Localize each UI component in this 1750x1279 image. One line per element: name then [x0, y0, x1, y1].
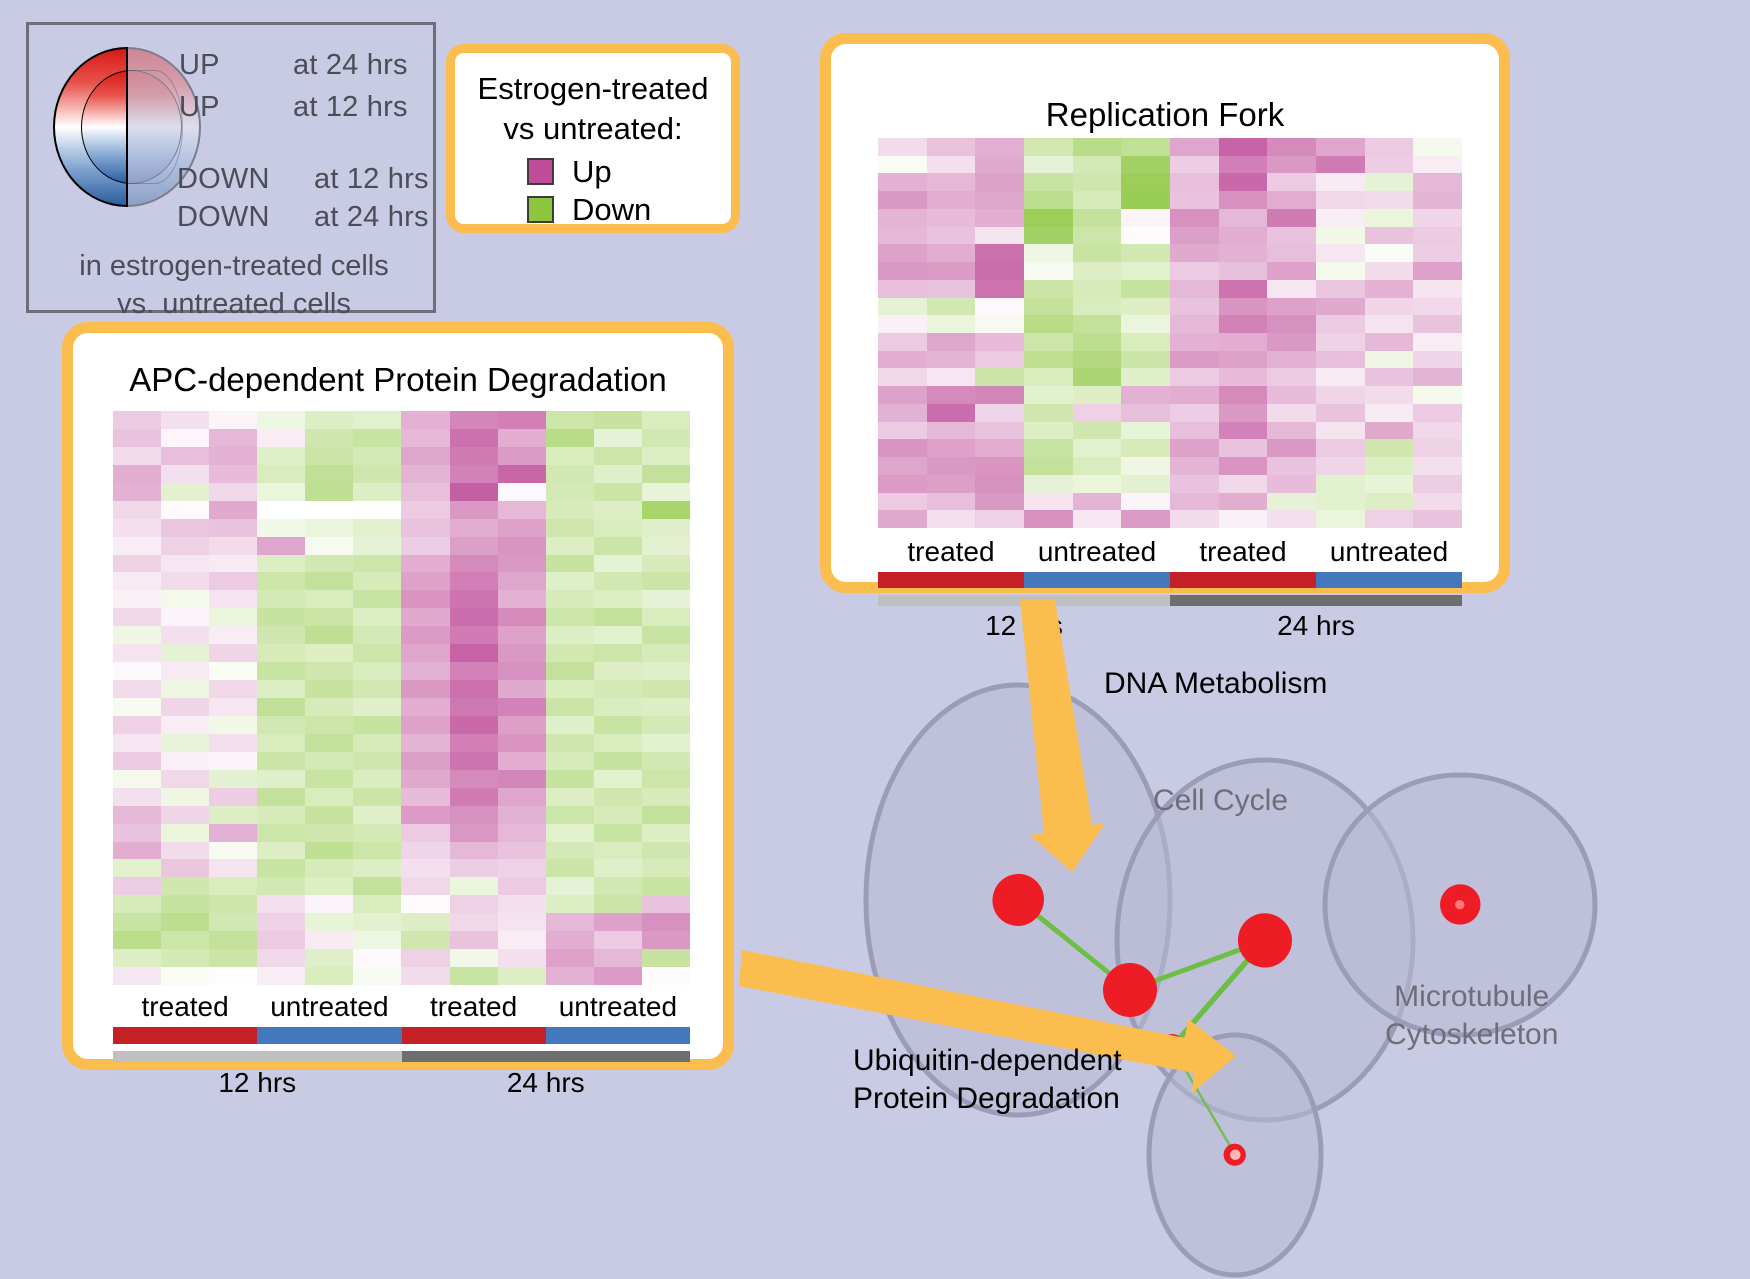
- heatmap-cell: [113, 698, 161, 716]
- heatmap-cell: [209, 752, 257, 770]
- condition-label: untreated: [1316, 536, 1462, 568]
- heatmap-cell: [1413, 368, 1462, 386]
- heatmap-cell: [1170, 493, 1219, 511]
- heatmap-cell: [927, 351, 976, 369]
- heatmap-cell: [642, 949, 690, 967]
- heatmap-cell: [305, 806, 353, 824]
- heatmap-cell: [594, 877, 642, 895]
- heatmap-cell: [353, 895, 401, 913]
- heatmap-cell: [498, 608, 546, 626]
- heatmap-cell: [161, 967, 209, 985]
- heatmap-cell: [353, 429, 401, 447]
- heatmap-cell: [113, 447, 161, 465]
- down-color-swatch: [527, 196, 554, 223]
- heatmap-cell: [1316, 422, 1365, 440]
- heatmap-cell: [401, 967, 449, 985]
- heatmap-cell: [546, 590, 594, 608]
- heatmap-cell: [353, 698, 401, 716]
- heatmap-cell: [546, 537, 594, 555]
- heatmap-cell: [1073, 510, 1122, 528]
- heatmap-cell: [305, 967, 353, 985]
- heatmap-cell: [1121, 404, 1170, 422]
- heatmap-cell: [401, 698, 449, 716]
- heatmap-cell: [1316, 244, 1365, 262]
- heatmap-cell: [450, 590, 498, 608]
- heatmap-cell: [257, 608, 305, 626]
- heatmap-cell: [1073, 209, 1122, 227]
- heatmap-cell: [1024, 227, 1073, 245]
- heatmap-cell: [1316, 439, 1365, 457]
- heatmap-cell: [594, 895, 642, 913]
- heatmap-cell: [113, 949, 161, 967]
- heatmap-cell: [927, 138, 976, 156]
- heatmap-cell: [878, 156, 927, 174]
- heatmap-cell: [1121, 138, 1170, 156]
- heatmap-cell: [113, 842, 161, 860]
- heatmap-cell: [1316, 156, 1365, 174]
- heatmap-cell: [1316, 209, 1365, 227]
- cluster-label-microtubule-cytoskeleton: MicrotubuleCytoskeleton: [1385, 978, 1558, 1054]
- heatmap-cell: [1267, 404, 1316, 422]
- heatmap-cell: [878, 315, 927, 333]
- heatmap-cell: [450, 698, 498, 716]
- heatmap-cell: [1267, 298, 1316, 316]
- heatmap-cell: [927, 439, 976, 457]
- heatmap-cell: [450, 501, 498, 519]
- heatmap-cell: [1073, 475, 1122, 493]
- heatmap-cell: [209, 734, 257, 752]
- heatmap-cell: [1073, 227, 1122, 245]
- network-node[interactable]: [1451, 896, 1469, 914]
- heatmap-cell: [1170, 457, 1219, 475]
- heatmap-cell: [305, 895, 353, 913]
- heatmap-cell: [305, 519, 353, 537]
- heatmap-cell: [257, 913, 305, 931]
- heatmap-cell: [642, 752, 690, 770]
- heatmap-cell: [305, 734, 353, 752]
- heatmap-cell: [642, 411, 690, 429]
- heatmap-cell: [353, 483, 401, 501]
- heatmap-cell: [594, 644, 642, 662]
- heatmap-cell: [498, 788, 546, 806]
- heatmap-cell: [257, 716, 305, 734]
- heatmap-cell: [498, 429, 546, 447]
- heatmap-cell: [305, 483, 353, 501]
- heatmap-cell: [1413, 298, 1462, 316]
- heatmap-cell: [642, 537, 690, 555]
- heatmap-cell: [642, 931, 690, 949]
- heatmap-cell: [1365, 457, 1414, 475]
- heatmap-cell: [450, 555, 498, 573]
- heatmap-cell: [1413, 173, 1462, 191]
- heatmap-cell: [401, 608, 449, 626]
- heatmap-cell: [401, 824, 449, 842]
- heatmap-cell: [305, 913, 353, 931]
- heatmap-cell: [401, 626, 449, 644]
- heatmap-cell: [1073, 351, 1122, 369]
- heatmap-cell: [1073, 315, 1122, 333]
- heatmap-cell: [305, 501, 353, 519]
- timepoint-bar-segment: [402, 1051, 691, 1062]
- heatmap-cell: [257, 770, 305, 788]
- condition-bar-segment: [546, 1027, 690, 1044]
- heatmap-cell: [450, 877, 498, 895]
- heatmap-cell: [546, 662, 594, 680]
- heatmap-cell: [878, 173, 927, 191]
- heatmap-cell: [1073, 439, 1122, 457]
- heatmap-cell: [113, 465, 161, 483]
- heatmap-cell: [1267, 156, 1316, 174]
- heatmap-cell: [305, 859, 353, 877]
- heatmap-cell: [1121, 173, 1170, 191]
- heatmap-cell: [401, 806, 449, 824]
- heatmap-cell: [209, 644, 257, 662]
- heatmap-cell: [305, 788, 353, 806]
- heatmap-cell: [1365, 475, 1414, 493]
- heatmap-cell: [1073, 386, 1122, 404]
- condition-label: treated: [113, 991, 257, 1023]
- heatmap-cell: [353, 644, 401, 662]
- heatmap-cell: [353, 608, 401, 626]
- panel-apc-degradation: APC-dependent Protein Degradation treate…: [62, 322, 734, 1070]
- panel-title-replication-fork: Replication Fork: [831, 96, 1499, 134]
- network-svg: [800, 610, 1750, 1279]
- cluster-label-dna-metabolism: DNA Metabolism: [1104, 667, 1327, 701]
- heatmap-cell: [209, 429, 257, 447]
- heatmap-cell: [1316, 191, 1365, 209]
- legend-down-label: Down: [572, 194, 651, 225]
- heatmap-cell: [1267, 351, 1316, 369]
- heatmap-cell: [975, 422, 1024, 440]
- heatmap-cell: [450, 465, 498, 483]
- heatmap-cell: [353, 752, 401, 770]
- heatmap-cell: [594, 824, 642, 842]
- legend-item-down: Down: [527, 194, 651, 225]
- heatmap-cell: [113, 429, 161, 447]
- heatmap-cell: [498, 590, 546, 608]
- network-node[interactable]: [994, 877, 1041, 924]
- heatmap-cell: [257, 752, 305, 770]
- legend-row-down12-label: DOWN: [177, 163, 270, 196]
- heatmap-cell: [353, 411, 401, 429]
- heatmap-cell: [642, 788, 690, 806]
- heatmap-cell: [305, 770, 353, 788]
- heatmap-cell: [1073, 368, 1122, 386]
- heatmap-cell: [450, 662, 498, 680]
- heatmap-cell: [401, 644, 449, 662]
- heatmap-cell: [161, 590, 209, 608]
- heatmap-cell: [257, 590, 305, 608]
- timepoint-labels-apc-degradation: 12 hrs24 hrs: [113, 1067, 690, 1099]
- heatmap-cell: [353, 859, 401, 877]
- heatmap-cell: [257, 734, 305, 752]
- heatmap-cell: [594, 752, 642, 770]
- heatmap-cell: [401, 842, 449, 860]
- heatmap-cell: [113, 590, 161, 608]
- heatmap-cell: [927, 262, 976, 280]
- heatmap-cell: [1170, 244, 1219, 262]
- heatmap-cell: [927, 475, 976, 493]
- heatmap-cell: [353, 519, 401, 537]
- heatmap-cell: [498, 572, 546, 590]
- heatmap-cell: [1170, 298, 1219, 316]
- heatmap-cell: [1267, 386, 1316, 404]
- heatmap-cell: [257, 644, 305, 662]
- heatmap-cell: [1413, 475, 1462, 493]
- heatmap-cell: [113, 913, 161, 931]
- legend-row-down12-time: at 12 hrs: [314, 163, 429, 196]
- heatmap-cell: [546, 824, 594, 842]
- heatmap-cell: [1413, 422, 1462, 440]
- timepoint-colorbar-replication-fork: [878, 595, 1462, 606]
- heatmap-cell: [305, 752, 353, 770]
- heatmap-cell: [1316, 138, 1365, 156]
- heatmap-cell: [1219, 422, 1268, 440]
- heatmap-cell: [498, 411, 546, 429]
- heatmap-cell: [927, 298, 976, 316]
- heatmap-cell: [353, 680, 401, 698]
- heatmap-cell: [642, 967, 690, 985]
- heatmap-cell: [209, 411, 257, 429]
- heatmap-cell: [1121, 244, 1170, 262]
- heatmap-cell: [450, 447, 498, 465]
- heatmap-cell: [1267, 173, 1316, 191]
- heatmap-cell: [1121, 298, 1170, 316]
- heatmap-cell: [546, 716, 594, 734]
- timepoint-bar-segment: [113, 1051, 402, 1062]
- heatmap-cell: [450, 626, 498, 644]
- heatmap-cell: [1121, 191, 1170, 209]
- heatmap-cell: [1024, 493, 1073, 511]
- heatmap-cell: [878, 422, 927, 440]
- heatmap-cell: [927, 209, 976, 227]
- heatmap-cell: [594, 662, 642, 680]
- heatmap-cell: [1170, 386, 1219, 404]
- heatmap-cell: [209, 842, 257, 860]
- heatmap-cell: [498, 842, 546, 860]
- heatmap-cell: [1413, 404, 1462, 422]
- heatmap-cell: [1267, 439, 1316, 457]
- heatmap-cell: [498, 537, 546, 555]
- heatmap-cell: [975, 156, 1024, 174]
- heatmap-cell: [113, 626, 161, 644]
- condition-bar-segment: [402, 1027, 546, 1044]
- heatmap-cell: [975, 333, 1024, 351]
- heatmap-cell: [1413, 493, 1462, 511]
- heatmap-cell: [161, 483, 209, 501]
- heatmap-cell: [594, 931, 642, 949]
- heatmap-cell: [401, 572, 449, 590]
- heatmap-cell: [1219, 138, 1268, 156]
- heatmap-cell: [927, 173, 976, 191]
- heatmap-cell: [878, 262, 927, 280]
- heatmap-cell: [1024, 422, 1073, 440]
- heatmap-cell: [1219, 227, 1268, 245]
- heatmap-cell: [546, 429, 594, 447]
- heatmap-cell: [209, 680, 257, 698]
- heatmap-cell: [401, 411, 449, 429]
- heatmap-cell: [1219, 351, 1268, 369]
- heatmap-cell: [975, 280, 1024, 298]
- heatmap-cell: [1024, 315, 1073, 333]
- heatmap-cell: [161, 411, 209, 429]
- heatmap-cell: [498, 913, 546, 931]
- heatmap-cell: [975, 404, 1024, 422]
- heatmap-cell: [401, 734, 449, 752]
- heatmap-cell: [878, 457, 927, 475]
- network-node[interactable]: [1159, 1034, 1185, 1060]
- heatmap-cell: [594, 913, 642, 931]
- heatmap-cell: [450, 716, 498, 734]
- heatmap-cell: [1170, 368, 1219, 386]
- heatmap-cell: [594, 572, 642, 590]
- heatmap-cell: [975, 475, 1024, 493]
- heatmap-cell: [305, 877, 353, 895]
- heatmap-cell: [1170, 191, 1219, 209]
- heatmap-cell: [1413, 262, 1462, 280]
- heatmap-cell: [594, 680, 642, 698]
- heatmap-cell: [353, 465, 401, 483]
- heatmap-cell: [305, 931, 353, 949]
- heatmap-cell: [594, 698, 642, 716]
- heatmap-cell: [209, 519, 257, 537]
- heatmap-cell: [1413, 386, 1462, 404]
- heatmap-cell: [401, 429, 449, 447]
- heatmap-cell: [353, 555, 401, 573]
- heatmap-cell: [594, 734, 642, 752]
- heatmap-cell: [401, 555, 449, 573]
- heatmap-apc-degradation: [113, 411, 690, 985]
- heatmap-cell: [401, 465, 449, 483]
- heatmap-cell: [401, 680, 449, 698]
- heatmap-cell: [546, 411, 594, 429]
- heatmap-cell: [975, 173, 1024, 191]
- heatmap-cell: [257, 824, 305, 842]
- heatmap-cell: [401, 662, 449, 680]
- heatmap-cell: [498, 734, 546, 752]
- heatmap-cell: [257, 447, 305, 465]
- heatmap-cell: [546, 931, 594, 949]
- heatmap-cell: [975, 209, 1024, 227]
- heatmap-cell: [209, 662, 257, 680]
- heatmap-cell: [594, 519, 642, 537]
- heatmap-cell: [975, 262, 1024, 280]
- heatmap-cell: [1413, 439, 1462, 457]
- heatmap-cell: [161, 572, 209, 590]
- heatmap-cell: [209, 788, 257, 806]
- heatmap-cell: [161, 465, 209, 483]
- heatmap-cell: [257, 626, 305, 644]
- heatmap-cell: [498, 752, 546, 770]
- heatmap-cell: [642, 662, 690, 680]
- heatmap-cell: [546, 842, 594, 860]
- heatmap-cell: [642, 483, 690, 501]
- heatmap-cell: [1267, 244, 1316, 262]
- heatmap-cell: [113, 411, 161, 429]
- panel-title-apc-degradation: APC-dependent Protein Degradation: [73, 361, 723, 399]
- heatmap-cell: [305, 447, 353, 465]
- heatmap-cell: [113, 608, 161, 626]
- heatmap-cell: [1219, 386, 1268, 404]
- heatmap-cell: [450, 824, 498, 842]
- heatmap-cell: [1073, 191, 1122, 209]
- heatmap-cell: [209, 931, 257, 949]
- heatmap-cell: [1024, 404, 1073, 422]
- panel-replication-fork: Replication Fork treateduntreatedtreated…: [820, 33, 1510, 593]
- heatmap-cell: [594, 411, 642, 429]
- heatmap-cell: [209, 465, 257, 483]
- heatmap-cell: [546, 465, 594, 483]
- heatmap-cell: [594, 770, 642, 788]
- heatmap-cell: [878, 439, 927, 457]
- heatmap-cell: [257, 788, 305, 806]
- heatmap-cell: [257, 429, 305, 447]
- heatmap-cell: [1316, 351, 1365, 369]
- heatmap-cell: [1073, 493, 1122, 511]
- heatmap-cell: [1219, 493, 1268, 511]
- heatmap-cell: [113, 572, 161, 590]
- heatmap-cell: [1170, 351, 1219, 369]
- network-node[interactable]: [1103, 963, 1157, 1017]
- heatmap-cell: [878, 191, 927, 209]
- heatmap-cell: [878, 333, 927, 351]
- heatmap-cell: [257, 931, 305, 949]
- heatmap-cell: [209, 859, 257, 877]
- heatmap-cell: [209, 806, 257, 824]
- heatmap-cell: [209, 967, 257, 985]
- network-node[interactable]: [1225, 1145, 1245, 1165]
- heatmap-cell: [1170, 439, 1219, 457]
- heatmap-cell: [257, 859, 305, 877]
- heatmap-cell: [1121, 368, 1170, 386]
- heatmap-cell: [257, 949, 305, 967]
- heatmap-cell: [1267, 510, 1316, 528]
- network-node[interactable]: [1254, 929, 1276, 951]
- condition-label: treated: [878, 536, 1024, 568]
- heatmap-cell: [1365, 262, 1414, 280]
- heatmap-cell: [975, 493, 1024, 511]
- heatmap-cell: [257, 967, 305, 985]
- heatmap-cell: [305, 949, 353, 967]
- heatmap-cell: [1365, 173, 1414, 191]
- heatmap-cell: [257, 411, 305, 429]
- heatmap-cell: [161, 716, 209, 734]
- heatmap-cell: [113, 770, 161, 788]
- heatmap-cell: [1024, 173, 1073, 191]
- heatmap-cell: [161, 895, 209, 913]
- heatmap-cell: [305, 680, 353, 698]
- heatmap-cell: [1267, 493, 1316, 511]
- heatmap-cell: [401, 752, 449, 770]
- heatmap-cell: [1121, 457, 1170, 475]
- heatmap-cell: [257, 537, 305, 555]
- heatmap-cell: [642, 608, 690, 626]
- heatmap-cell: [642, 626, 690, 644]
- heatmap-cell: [161, 429, 209, 447]
- heatmap-cell: [209, 572, 257, 590]
- condition-labels-apc-degradation: treateduntreatedtreateduntreated: [113, 991, 690, 1023]
- heatmap-cell: [642, 644, 690, 662]
- heatmap-cell: [113, 716, 161, 734]
- heatmap-cell: [353, 824, 401, 842]
- heatmap-cell: [1365, 298, 1414, 316]
- heatmap-cell: [642, 913, 690, 931]
- heatmap-cell: [498, 465, 546, 483]
- heatmap-cell: [1365, 439, 1414, 457]
- heatmap-cell: [642, 429, 690, 447]
- heatmap-cell: [1316, 333, 1365, 351]
- heatmap-cell: [1170, 227, 1219, 245]
